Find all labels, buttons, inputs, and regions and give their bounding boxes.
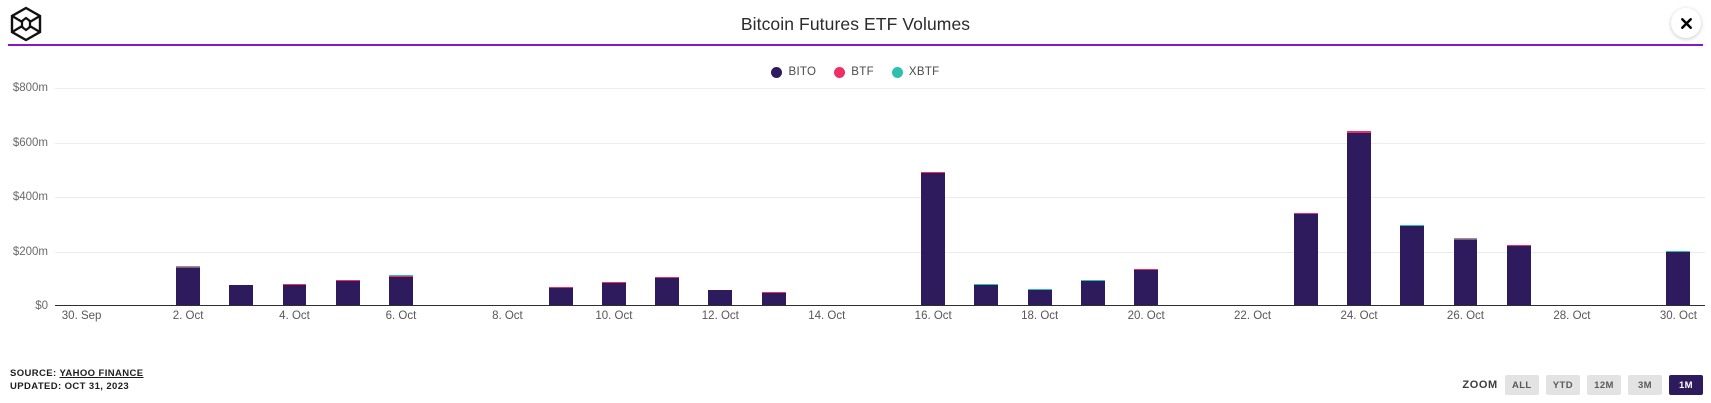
bar-segment-bito [921,173,945,304]
bar-group[interactable] [708,290,732,305]
x-axis-labels: 30. Sep2. Oct4. Oct6. Oct8. Oct10. Oct12… [55,310,1705,330]
bar-segment-bito [1347,133,1371,305]
bar-group[interactable] [389,275,413,304]
legend-item-bito[interactable]: BITO [771,66,816,78]
page-title: Bitcoin Futures ETF Volumes [0,14,1711,35]
chart-page: Bitcoin Futures ETF Volumes BITOBTFXBTF … [0,0,1711,403]
legend-label: BTF [851,66,874,78]
x-axis-tick-label: 22. Oct [1234,310,1271,322]
legend-item-xbtf[interactable]: XBTF [892,66,940,78]
x-axis-tick-label: 28. Oct [1553,310,1590,322]
bar-segment-bito [1081,281,1105,305]
x-axis-tick-label: 6. Oct [386,310,417,322]
bar-group[interactable] [602,282,626,304]
bar-group[interactable] [974,284,998,304]
x-axis-tick-label: 16. Oct [915,310,952,322]
bar-group[interactable] [283,284,307,304]
x-axis-tick-label: 14. Oct [808,310,845,322]
bar-group[interactable] [655,277,679,305]
x-axis-tick-label: 8. Oct [492,310,523,322]
zoom-button-1m[interactable]: 1M [1669,375,1703,395]
x-axis-tick-label: 2. Oct [173,310,204,322]
x-axis-tick-label: 30. Sep [62,310,102,322]
y-axis-tick-label: $400m [13,191,48,203]
bar-segment-bito [336,281,360,305]
y-axis-tick-label: $800m [13,82,48,94]
zoom-button-all[interactable]: ALL [1505,375,1539,395]
x-axis-tick-label: 18. Oct [1021,310,1058,322]
bar-group[interactable] [336,280,360,305]
legend-swatch-icon [834,67,845,78]
legend-label: XBTF [909,66,940,78]
x-axis-tick-label: 24. Oct [1340,310,1377,322]
bar-group[interactable] [1507,245,1531,305]
zoom-button-3m[interactable]: 3M [1628,375,1662,395]
y-axis-tick-label: $200m [13,246,48,258]
x-axis-line [55,305,1705,307]
bar-segment-bito [602,283,626,305]
bar-segment-bito [708,290,732,304]
bar-segment-bito [762,293,786,305]
bar-segment-bito [1400,226,1424,304]
zoom-label: ZOOM [1462,379,1497,391]
bar-group[interactable] [762,292,786,305]
zoom-controls: ZOOM ALLYTD12M3M1M [1462,375,1703,395]
x-axis-tick-label: 26. Oct [1447,310,1484,322]
bar-group[interactable] [921,172,945,305]
x-axis-tick-label: 4. Oct [279,310,310,322]
bar-group[interactable] [176,266,200,305]
bar-group[interactable] [1028,289,1052,304]
bar-segment-bito [974,285,998,305]
legend-item-btf[interactable]: BTF [834,66,874,78]
bar-group[interactable] [1294,213,1318,305]
bar-segment-bito [176,268,200,305]
bar-group[interactable] [1347,131,1371,305]
bar-segment-bito [1028,290,1052,305]
bar-series-container [55,88,1705,305]
legend-swatch-icon [892,67,903,78]
y-axis-tick-label: $600m [13,137,48,149]
bar-segment-bito [1454,240,1478,304]
bar-segment-bito [1666,252,1690,304]
close-button[interactable] [1671,8,1701,38]
x-axis-tick-label: 12. Oct [702,310,739,322]
updated-line: UPDATED: OCT 31, 2023 [10,381,129,392]
bar-segment-bito [389,277,413,304]
bar-segment-bito [283,285,307,304]
source-line: SOURCE: YAHOO FINANCE [10,368,144,379]
bar-group[interactable] [549,287,573,305]
bar-segment-bito [229,285,253,304]
bar-segment-bito [655,278,679,304]
bar-segment-bito [1134,270,1158,305]
source-prefix: SOURCE: [10,368,59,379]
x-axis-tick-label: 30. Oct [1660,310,1697,322]
chart-area: $0$200m$400m$600m$800m 30. Sep2. Oct4. O… [0,88,1711,340]
bar-group[interactable] [1134,269,1158,305]
y-axis-labels: $0$200m$400m$600m$800m [0,88,52,306]
y-axis-tick-label: $0 [35,300,48,312]
plot-area [55,88,1705,306]
accent-divider [8,44,1703,46]
close-icon [1679,16,1694,31]
bar-group[interactable] [1400,225,1424,304]
zoom-button-12m[interactable]: 12M [1587,375,1621,395]
bar-group[interactable] [1081,280,1105,304]
legend-label: BITO [788,66,816,78]
legend-swatch-icon [771,67,782,78]
bar-segment-bito [1507,246,1531,305]
x-axis-tick-label: 20. Oct [1128,310,1165,322]
x-axis-tick-label: 10. Oct [595,310,632,322]
source-link[interactable]: YAHOO FINANCE [59,368,143,379]
chart-legend: BITOBTFXBTF [0,66,1711,78]
bar-group[interactable] [1666,251,1690,304]
zoom-button-ytd[interactable]: YTD [1546,375,1580,395]
bar-group[interactable] [229,285,253,305]
bar-group[interactable] [1454,238,1478,304]
bar-segment-bito [549,288,573,305]
footer: SOURCE: YAHOO FINANCE UPDATED: OCT 31, 2… [0,355,1711,403]
header: Bitcoin Futures ETF Volumes [0,0,1711,50]
bar-segment-bito [1294,214,1318,304]
